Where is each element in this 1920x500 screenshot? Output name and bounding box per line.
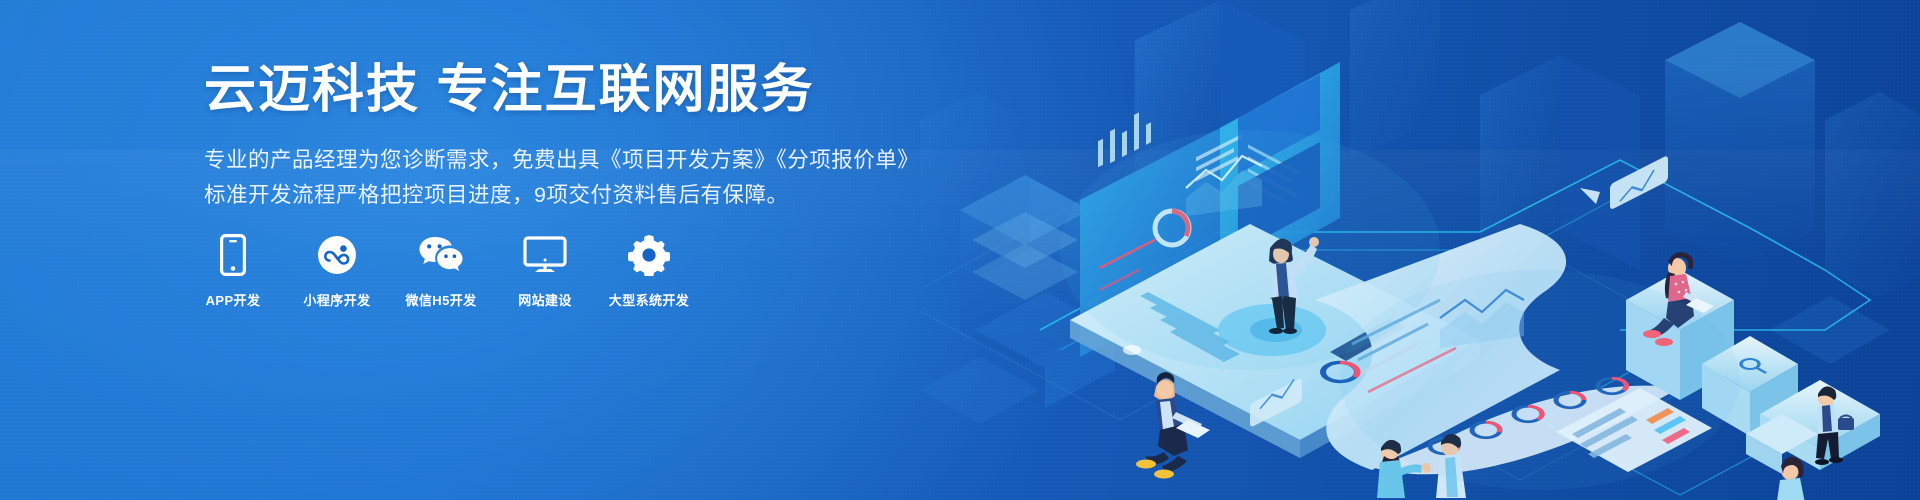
service-list: APP开发 小程序开发 [204,232,678,309]
banner-content: 云迈科技 专注互联网服务 专业的产品经理为您诊断需求，免费出具《项目开发方案》《… [204,60,1104,213]
service-label-miniprogram: 小程序开发 [304,290,371,309]
hero-banner: 云迈科技 专注互联网服务 专业的产品经理为您诊断需求，免费出具《项目开发方案》《… [0,0,1920,500]
service-item-wechat[interactable]: 微信H5开发 [412,232,470,309]
banner-subtitle: 专业的产品经理为您诊断需求，免费出具《项目开发方案》《分项报价单》 标准开发流程… [204,143,1104,213]
service-item-miniprogram[interactable]: 小程序开发 [308,232,366,309]
service-label-wechat: 微信H5开发 [405,290,476,309]
subtitle-line-2: 标准开发流程严格把控项目进度，9项交付资料售后有保障。 [204,178,1104,213]
page-title: 云迈科技 专注互联网服务 [204,60,1104,121]
mobile-phone-icon [220,232,246,278]
monitor-icon [523,232,567,278]
gear-icon [628,232,670,278]
service-label-system: 大型系统开发 [609,290,689,309]
service-item-system[interactable]: 大型系统开发 [620,232,678,309]
service-label-website: 网站建设 [518,290,572,309]
service-item-app[interactable]: APP开发 [204,232,262,309]
wechat-icon [418,232,464,278]
subtitle-line-1: 专业的产品经理为您诊断需求，免费出具《项目开发方案》《分项报价单》 [204,143,1104,178]
mini-program-icon [317,232,357,278]
service-label-app: APP开发 [206,290,261,309]
service-item-website[interactable]: 网站建设 [516,232,574,309]
